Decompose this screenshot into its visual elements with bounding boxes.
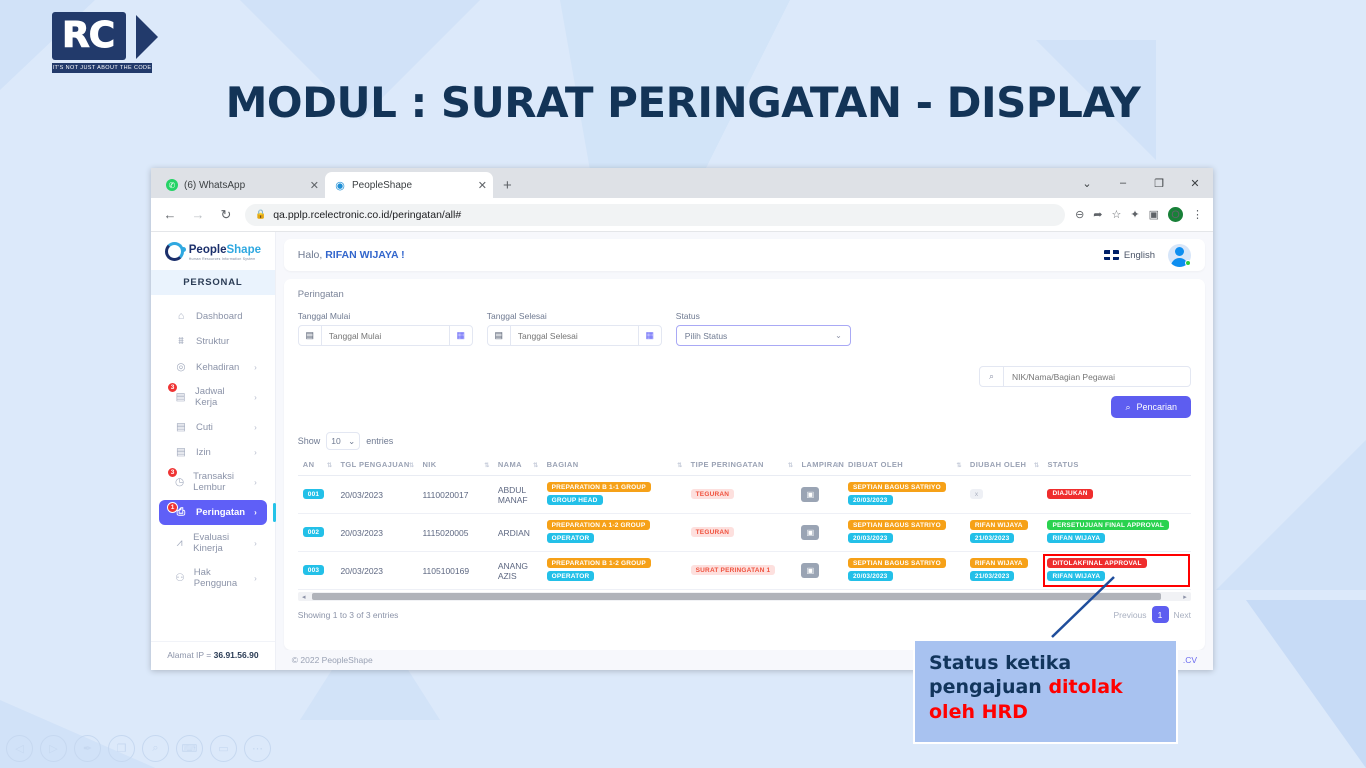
browser-tab-whatsapp[interactable]: ✆ (6) WhatsApp ✕ — [157, 172, 325, 198]
topbar-right: English — [1104, 244, 1191, 267]
sidebar-item-izin[interactable]: ▤ Izin › — [159, 440, 267, 464]
tipe-badge: TEGURAN — [691, 527, 735, 537]
calendar-picker-icon[interactable]: ▦ — [638, 326, 661, 345]
sort-icon: ⇅ — [788, 464, 793, 469]
show-prefix: Show — [298, 436, 321, 446]
table-row[interactable]: 003 20/03/2023 1105100169 ANANG AZIS PRE… — [298, 552, 1191, 590]
sidebar-item-label: Izin — [196, 447, 245, 458]
chevron-right-icon: › — [254, 574, 257, 583]
chevron-down-icon: ⌄ — [835, 331, 842, 340]
close-tab-icon[interactable]: ✕ — [478, 179, 487, 192]
sort-icon: ⇅ — [327, 464, 332, 469]
search-icon: ⌕ — [980, 367, 1004, 386]
back-icon[interactable]: ← — [161, 207, 179, 222]
sort-icon: ⇅ — [835, 464, 840, 469]
sidebar-item-label: Cuti — [196, 422, 245, 433]
cell-tgl-pengajuan: 20/03/2023 — [335, 476, 417, 514]
filter-tanggal-selesai: Tanggal Selesai ▤ ▦ — [487, 311, 662, 346]
cell-lampiran: ▣ — [796, 476, 843, 514]
bagian-group-badge: PREPARATION A 1-2 GROUP — [547, 520, 651, 530]
sidebar-item-label: Dashboard — [196, 311, 248, 322]
sidebar-item-struktur[interactable]: ⩩ Struktur — [159, 329, 267, 354]
cell-nama: ARDIAN — [493, 514, 542, 552]
cell-nik: 1110020017 — [417, 476, 492, 514]
sort-icon: ⇅ — [956, 464, 961, 469]
show-suffix: entries — [366, 436, 393, 446]
pagination: Previous 1 Next — [1113, 606, 1191, 623]
th-status: STATUS — [1042, 456, 1191, 476]
sort-icon: ⇅ — [484, 464, 489, 469]
th-no[interactable]: AN⇅ — [298, 456, 336, 476]
rc-logo-arrow-icon — [136, 15, 158, 59]
footer-company: .CV — [1183, 655, 1197, 665]
status-by-badge: RIFAN WIJAYA — [1047, 533, 1105, 543]
pencarian-button-label: Pencarian — [1137, 402, 1178, 412]
cell-diubah-oleh: RIFAN WIJAYA 21/03/2023 — [965, 514, 1043, 552]
footer-copyright: © 2022 PeopleShape — [292, 655, 373, 665]
entries-per-page-select[interactable]: 10 ⌄ — [326, 432, 360, 450]
status-by-badge: RIFAN WIJAYA — [1047, 571, 1105, 581]
entries-value: 10 — [331, 436, 340, 446]
uk-flag-icon — [1104, 250, 1119, 260]
sidebar-nav: ⌂ Dashboard ⩩ Struktur ◎ Kehadiran › 3 ▤ — [151, 295, 275, 641]
brand-subtitle: Human Resources Information System — [189, 258, 261, 261]
cell-nama: ANANG AZIS — [493, 552, 542, 590]
search-row: ⌕ — [298, 366, 1191, 387]
fingerprint-icon: ◎ — [175, 361, 187, 373]
cell-dibuat-oleh: SEPTIAN BAGUS SATRIYO 20/03/2023 — [843, 476, 965, 514]
language-label: English — [1124, 250, 1155, 261]
close-window-icon[interactable]: ✕ — [1177, 168, 1213, 198]
dibuat-oleh-badge: SEPTIAN BAGUS SATRIYO — [848, 558, 946, 568]
cell-nik: 1105100169 — [417, 552, 492, 590]
cell-tgl-pengajuan: 20/03/2023 — [335, 552, 417, 590]
sort-icon: ⇅ — [533, 464, 538, 469]
forward-icon[interactable]: → — [189, 207, 207, 222]
th-dibuat-oleh[interactable]: DIBUAT OLEH⇅ — [843, 456, 965, 476]
pen-icon[interactable]: ✒ — [74, 735, 101, 762]
collapse-ribbon-icon[interactable]: ⌄ — [1069, 168, 1105, 198]
camera-off-icon[interactable]: ▭ — [210, 735, 237, 762]
callout-line-2-red: ditolak — [1048, 676, 1122, 698]
maximize-icon[interactable]: ❐ — [1141, 168, 1177, 198]
address-bar[interactable]: 🔒 qa.pplp.rcelectronic.co.id/peringatan/… — [245, 204, 1065, 226]
chevron-down-icon: ⌄ — [348, 436, 355, 447]
th-bagian[interactable]: BAGIAN⇅ — [542, 456, 686, 476]
row-no-badge: 002 — [303, 527, 324, 537]
chevron-right-icon: › — [254, 423, 257, 432]
chrome-profile-avatar[interactable]: O — [1168, 207, 1183, 222]
sidebar-item-transaksi-lembur[interactable]: 3 ◷ Transaksi Lembur › — [159, 465, 267, 499]
rc-logo-tagline: IT'S NOT JUST ABOUT THE CODE — [52, 63, 152, 73]
cell-bagian: PREPARATION B 1-2 GROUP OPERATOR — [542, 552, 686, 590]
language-switcher[interactable]: English — [1104, 250, 1155, 261]
omnibar-icons: ⊖ ➦ ☆ ✦ ▣ O ⋮ — [1075, 207, 1203, 222]
row-no-badge: 003 — [303, 565, 324, 575]
th-nik[interactable]: NIK⇅ — [417, 456, 492, 476]
minimize-icon[interactable]: – — [1105, 168, 1141, 198]
peringatan-card: Peringatan Tanggal Mulai ▤ ▦ Tanggal Sel… — [284, 279, 1205, 650]
status-badge: PERSETUJUAN FINAL APPROVAL — [1047, 520, 1169, 530]
table-row[interactable]: 001 20/03/2023 1110020017 ABDUL MANAF PR… — [298, 476, 1191, 514]
user-avatar[interactable] — [1168, 244, 1191, 267]
scroll-left-icon[interactable]: ◂ — [298, 593, 310, 601]
reload-icon[interactable]: ↻ — [217, 207, 235, 223]
diubah-tgl-badge: 21/03/2023 — [970, 571, 1015, 581]
tipe-badge: SURAT PERINGATAN 1 — [691, 565, 776, 575]
pencarian-button[interactable]: ⌕ Pencarian — [1111, 396, 1191, 418]
cell-tipe-peringatan: SURAT PERINGATAN 1 — [686, 552, 797, 590]
sidebar-item-dashboard[interactable]: ⌂ Dashboard — [159, 304, 267, 328]
search-input[interactable] — [1004, 372, 1190, 382]
more-options-icon[interactable]: ⋯ — [244, 735, 271, 762]
search-button-row: ⌕ Pencarian — [298, 396, 1191, 418]
peopleshape-wordmark: PeopleShape Human Resources Information … — [189, 241, 261, 261]
side-panel-icon[interactable]: ▣ — [1149, 208, 1159, 221]
sidebar-item-label: Struktur — [196, 336, 248, 347]
callout-line-2: pengajuan ditolak — [929, 675, 1162, 699]
chevron-right-icon: › — [254, 448, 257, 457]
sidebar-item-kehadiran[interactable]: ◎ Kehadiran › — [159, 355, 267, 379]
slide-title: MODUL : SURAT PERINGATAN - DISPLAY — [0, 78, 1366, 127]
date-start-input[interactable] — [322, 331, 449, 341]
th-lampiran[interactable]: LAMPIRAN⇅ — [796, 456, 843, 476]
status-badge: DIAJUKAN — [1047, 489, 1092, 499]
sort-icon: ⇅ — [409, 464, 414, 469]
sort-icon: ⇅ — [1034, 464, 1039, 469]
row-no-badge: 001 — [303, 489, 324, 499]
pagination-page-1[interactable]: 1 — [1152, 606, 1169, 623]
filter-row: Tanggal Mulai ▤ ▦ Tanggal Selesai ▤ ▦ — [298, 311, 1191, 346]
rc-logo: RC IT'S NOT JUST ABOUT THE CODE — [52, 12, 162, 73]
status-select-value: Pilih Status — [685, 331, 728, 341]
cell-tipe-peringatan: TEGURAN — [686, 514, 797, 552]
table-row[interactable]: 002 20/03/2023 1115020005 ARDIAN PREPARA… — [298, 514, 1191, 552]
diubah-tgl-badge: 21/03/2023 — [970, 533, 1015, 543]
prev-slide-icon[interactable]: ◁ — [6, 735, 33, 762]
filter-tanggal-mulai: Tanggal Mulai ▤ ▦ — [298, 311, 473, 346]
date-end-input[interactable] — [511, 331, 638, 341]
ip-label: Alamat IP = — [167, 650, 211, 660]
sidebar-item-peringatan[interactable]: 1 ⎙ Peringatan › — [159, 500, 267, 525]
date-end-field[interactable]: ▤ ▦ — [487, 325, 662, 346]
tipe-badge: TEGURAN — [691, 489, 735, 499]
callout-line-2-plain: pengajuan — [929, 676, 1048, 698]
table-horizontal-scrollbar[interactable]: ◂ ▸ — [298, 592, 1191, 601]
extensions-icon[interactable]: ✦ — [1130, 208, 1139, 221]
browser-tabstrip: ✆ (6) WhatsApp ✕ ◉ PeopleShape ✕ + ⌄ – ❐… — [151, 168, 1213, 198]
notification-badge: 3 — [167, 467, 178, 478]
th-tgl-pengajuan[interactable]: TGL PENGAJUAN⇅ — [335, 456, 417, 476]
peopleshape-ring-icon — [165, 242, 184, 261]
th-diubah-oleh[interactable]: DIUBAH OLEH⇅ — [965, 456, 1043, 476]
sidebar-item-label: Transaksi Lembur — [193, 471, 245, 493]
calendar-work-icon: ▤ — [175, 391, 186, 403]
cell-bagian: PREPARATION A 1-2 GROUP OPERATOR — [542, 514, 686, 552]
greeting-username: RIFAN WIJAYA ! — [325, 249, 404, 261]
next-slide-icon[interactable]: ▷ — [40, 735, 67, 762]
chevron-right-icon: › — [254, 478, 257, 487]
cell-dibuat-oleh: SEPTIAN BAGUS SATRIYO 20/03/2023 — [843, 514, 965, 552]
bagian-group-badge: PREPARATION B 1-2 GROUP — [547, 558, 651, 568]
cell-nama: ABDUL MANAF — [493, 476, 542, 514]
peringatan-table-wrapper: AN⇅ TGL PENGAJUAN⇅ NIK⇅ NAMA⇅ BAGIAN⇅ TI… — [298, 456, 1191, 623]
sidebar-item-label: Peringatan — [196, 507, 245, 518]
th-nama[interactable]: NAMA⇅ — [493, 456, 542, 476]
peopleshape-logo[interactable]: PeopleShape Human Resources Information … — [151, 232, 275, 270]
chevron-right-icon: › — [254, 363, 257, 372]
sort-icon: ⇅ — [677, 464, 682, 469]
sidebar-item-jadwal-kerja[interactable]: 3 ▤ Jadwal Kerja › — [159, 380, 267, 414]
clock-icon: ◷ — [175, 476, 184, 488]
peringatan-table: AN⇅ TGL PENGAJUAN⇅ NIK⇅ NAMA⇅ BAGIAN⇅ TI… — [298, 456, 1191, 590]
bg-triangle-right — [1216, 440, 1366, 590]
notification-badge: 3 — [167, 382, 178, 393]
image-icon[interactable]: ▣ — [801, 563, 819, 578]
tab-label: PeopleShape — [352, 180, 472, 191]
new-tab-button[interactable]: + — [503, 177, 512, 194]
slide-grid-icon[interactable]: ❐ — [108, 735, 135, 762]
cell-status: DITOLAKFINAL APPROVAL RIFAN WIJAYA — [1042, 552, 1191, 590]
table-head: AN⇅ TGL PENGAJUAN⇅ NIK⇅ NAMA⇅ BAGIAN⇅ TI… — [298, 456, 1191, 476]
status-badge: DITOLAKFINAL APPROVAL — [1047, 558, 1146, 568]
cell-tipe-peringatan: TEGURAN — [686, 476, 797, 514]
url-text: qa.pplp.rcelectronic.co.id/peringatan/al… — [273, 209, 461, 221]
dibuat-tgl-badge: 20/03/2023 — [848, 495, 893, 505]
search-icon: ⌕ — [1125, 402, 1130, 413]
whatsapp-icon: ✆ — [166, 179, 178, 191]
filter-status: Status Pilih Status ⌄ — [676, 311, 851, 346]
sidebar-item-label: Kehadiran — [196, 362, 245, 373]
sidebar-ip-address: Alamat IP = 36.91.56.90 — [151, 641, 275, 670]
showing-entries-text: Showing 1 to 3 of 3 entries — [298, 610, 399, 620]
field-label: Tanggal Mulai — [298, 311, 473, 321]
diubah-oleh-badge: RIFAN WIJAYA — [970, 520, 1028, 530]
org-chart-icon: ⩩ — [175, 335, 187, 348]
bookmark-star-icon[interactable]: ☆ — [1112, 208, 1122, 221]
tab-label: (6) WhatsApp — [184, 180, 304, 191]
rc-logo-text: RC — [52, 12, 126, 60]
browser-omnibar: ← → ↻ 🔒 qa.pplp.rcelectronic.co.id/perin… — [151, 198, 1213, 232]
sidebar-item-cuti[interactable]: ▤ Cuti › — [159, 415, 267, 439]
app-topbar: Halo, RIFAN WIJAYA ! English — [284, 239, 1205, 271]
cell-diubah-oleh: RIFAN WIJAYA 21/03/2023 — [965, 552, 1043, 590]
browser-tab-peopleshape[interactable]: ◉ PeopleShape ✕ — [325, 172, 493, 198]
zoom-icon[interactable]: ⊖ — [1075, 208, 1084, 221]
notification-badge: 1 — [167, 502, 178, 513]
cell-lampiran: ▣ — [796, 514, 843, 552]
bagian-role-badge: OPERATOR — [547, 571, 595, 581]
chevron-right-icon: › — [254, 539, 257, 548]
image-icon[interactable]: ▣ — [801, 525, 819, 540]
share-icon[interactable]: ➦ — [1093, 208, 1102, 221]
dibuat-tgl-badge: 20/03/2023 — [848, 571, 893, 581]
browser-window: ✆ (6) WhatsApp ✕ ◉ PeopleShape ✕ + ⌄ – ❐… — [151, 168, 1213, 670]
cell-no: 002 — [298, 514, 336, 552]
sidebar-item-evaluasi-kinerja[interactable]: ⩘ Evaluasi Kinerja › — [159, 526, 267, 560]
app-viewport: PeopleShape Human Resources Information … — [151, 232, 1213, 670]
dibuat-tgl-badge: 20/03/2023 — [848, 533, 893, 543]
page-title: Peringatan — [298, 289, 1191, 300]
sidebar-item-label: Jadwal Kerja — [195, 386, 245, 408]
pagination-next[interactable]: Next — [1174, 610, 1191, 620]
show-entries-row: Show 10 ⌄ entries — [298, 432, 1191, 450]
calendar-icon: ▤ — [488, 326, 511, 345]
close-tab-icon[interactable]: ✕ — [310, 179, 319, 192]
table-footer: Showing 1 to 3 of 3 entries Previous 1 N… — [298, 606, 1191, 623]
lock-icon: 🔒 — [255, 209, 266, 220]
diubah-oleh-badge: RIFAN WIJAYA — [970, 558, 1028, 568]
scroll-right-icon[interactable]: ▸ — [1179, 593, 1191, 601]
app-sidebar: PeopleShape Human Resources Information … — [151, 232, 276, 670]
cell-diubah-oleh: x — [965, 476, 1043, 514]
image-icon[interactable]: ▣ — [801, 487, 819, 502]
window-controls: ⌄ – ❐ ✕ — [1069, 168, 1213, 198]
calendar-icon: ▤ — [175, 421, 187, 433]
table-body: 001 20/03/2023 1110020017 ABDUL MANAF PR… — [298, 476, 1191, 590]
dibuat-oleh-badge: SEPTIAN BAGUS SATRIYO — [848, 482, 946, 492]
cell-tgl-pengajuan: 20/03/2023 — [335, 514, 417, 552]
browser-menu-icon[interactable]: ⋮ — [1192, 208, 1203, 221]
cell-lampiran: ▣ — [796, 552, 843, 590]
user-icon: ⚇ — [175, 572, 185, 584]
callout-line-3: oleh HRD — [929, 700, 1162, 724]
annotation-callout: Status ketika pengajuan ditolak oleh HRD — [913, 639, 1178, 744]
status-select[interactable]: Pilih Status ⌄ — [676, 325, 851, 346]
scrollbar-thumb[interactable] — [312, 593, 1161, 600]
presentation-toolbar: ◁ ▷ ✒ ❐ ⌕ ⌨ ▭ ⋯ — [6, 735, 271, 762]
greeting: Halo, RIFAN WIJAYA ! — [298, 249, 405, 261]
cell-bagian: PREPARATION B 1-1 GROUP GROUP HEAD — [542, 476, 686, 514]
home-icon: ⌂ — [175, 310, 187, 322]
zoom-icon[interactable]: ⌕ — [142, 735, 169, 762]
bagian-group-badge: PREPARATION B 1-1 GROUP — [547, 482, 651, 492]
sidebar-section-label: PERSONAL — [151, 270, 275, 295]
dibuat-oleh-badge: SEPTIAN BAGUS SATRIYO — [848, 520, 946, 530]
rc-logo-mark: RC — [52, 12, 162, 62]
chevron-right-icon: › — [254, 508, 257, 517]
status-highlight-box: DITOLAKFINAL APPROVAL RIFAN WIJAYA — [1047, 558, 1186, 583]
pagination-previous[interactable]: Previous — [1113, 610, 1146, 620]
chart-line-icon: ⩘ — [175, 537, 184, 550]
cell-status: DIAJUKAN — [1042, 476, 1191, 514]
greeting-prefix: Halo, — [298, 249, 323, 261]
chevron-right-icon: › — [254, 393, 257, 402]
calendar-picker-icon[interactable]: ▦ — [449, 326, 472, 345]
online-status-dot — [1185, 260, 1191, 266]
cell-nik: 1115020005 — [417, 514, 492, 552]
cell-dibuat-oleh: SEPTIAN BAGUS SATRIYO 20/03/2023 — [843, 552, 965, 590]
active-indicator — [273, 503, 276, 522]
field-label: Tanggal Selesai — [487, 311, 662, 321]
calendar-icon: ▤ — [175, 446, 187, 458]
sidebar-item-label: Hak Pengguna — [194, 567, 245, 589]
brand-name: PeopleShape — [189, 244, 261, 256]
bagian-role-badge: GROUP HEAD — [547, 495, 603, 505]
th-tipe-peringatan[interactable]: TIPE PERINGATAN⇅ — [686, 456, 797, 476]
bagian-role-badge: OPERATOR — [547, 533, 595, 543]
calendar-icon: ▤ — [299, 326, 322, 345]
field-label: Status — [676, 311, 851, 321]
bg-triangle-bottomright — [1246, 600, 1366, 768]
app-main: Halo, RIFAN WIJAYA ! English Peringatan — [276, 232, 1213, 670]
diubah-oleh-badge: x — [970, 489, 983, 499]
callout-line-1: Status ketika — [929, 651, 1162, 675]
table-header-row: AN⇅ TGL PENGAJUAN⇅ NIK⇅ NAMA⇅ BAGIAN⇅ TI… — [298, 456, 1191, 476]
keyword-search-field[interactable]: ⌕ — [979, 366, 1191, 387]
captions-icon[interactable]: ⌨ — [176, 735, 203, 762]
peopleshape-icon: ◉ — [334, 179, 346, 191]
cell-no: 001 — [298, 476, 336, 514]
cell-no: 003 — [298, 552, 336, 590]
ip-value: 36.91.56.90 — [214, 650, 259, 660]
sidebar-item-hak-pengguna[interactable]: ⚇ Hak Pengguna › — [159, 561, 267, 595]
sidebar-item-label: Evaluasi Kinerja — [193, 532, 245, 554]
date-start-field[interactable]: ▤ ▦ — [298, 325, 473, 346]
cell-status: PERSETUJUAN FINAL APPROVAL RIFAN WIJAYA — [1042, 514, 1191, 552]
